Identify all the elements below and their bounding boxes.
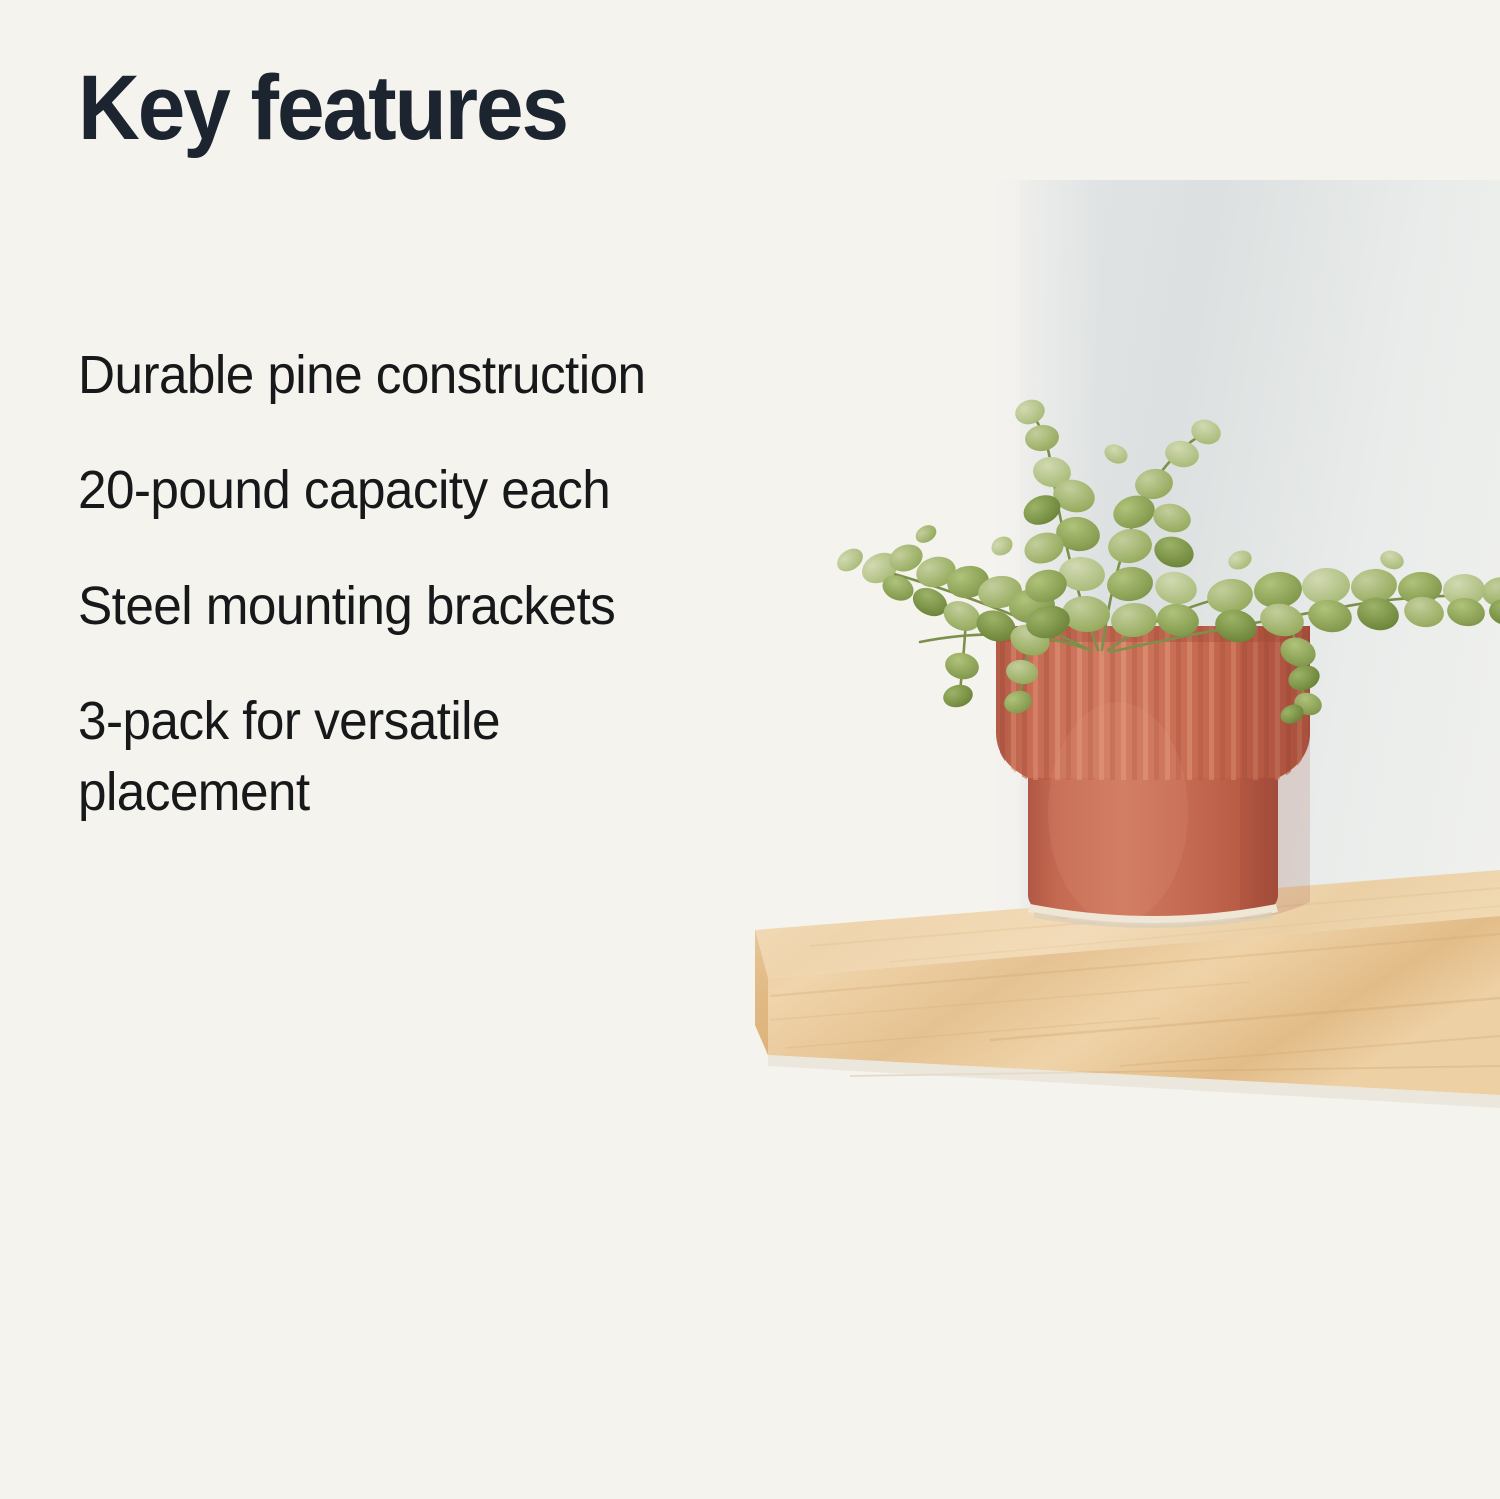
page-title: Key features: [78, 62, 567, 154]
feature-text-column: Key features Durable pine construction 2…: [78, 0, 778, 1499]
plant-leaves: [833, 396, 1500, 727]
feature-item-4: 3-pack for versatile placement: [78, 686, 705, 829]
feature-item-3: Steel mounting brackets: [78, 571, 705, 642]
product-feature-page: Key features Durable pine construction 2…: [0, 0, 1500, 1499]
feature-item-1: Durable pine construction: [78, 340, 705, 411]
feature-list: Durable pine construction 20-pound capac…: [78, 340, 778, 828]
product-photo: [690, 180, 1500, 1160]
feature-item-2: 20-pound capacity each: [78, 455, 705, 526]
faux-eucalyptus-plant: [730, 320, 1500, 740]
